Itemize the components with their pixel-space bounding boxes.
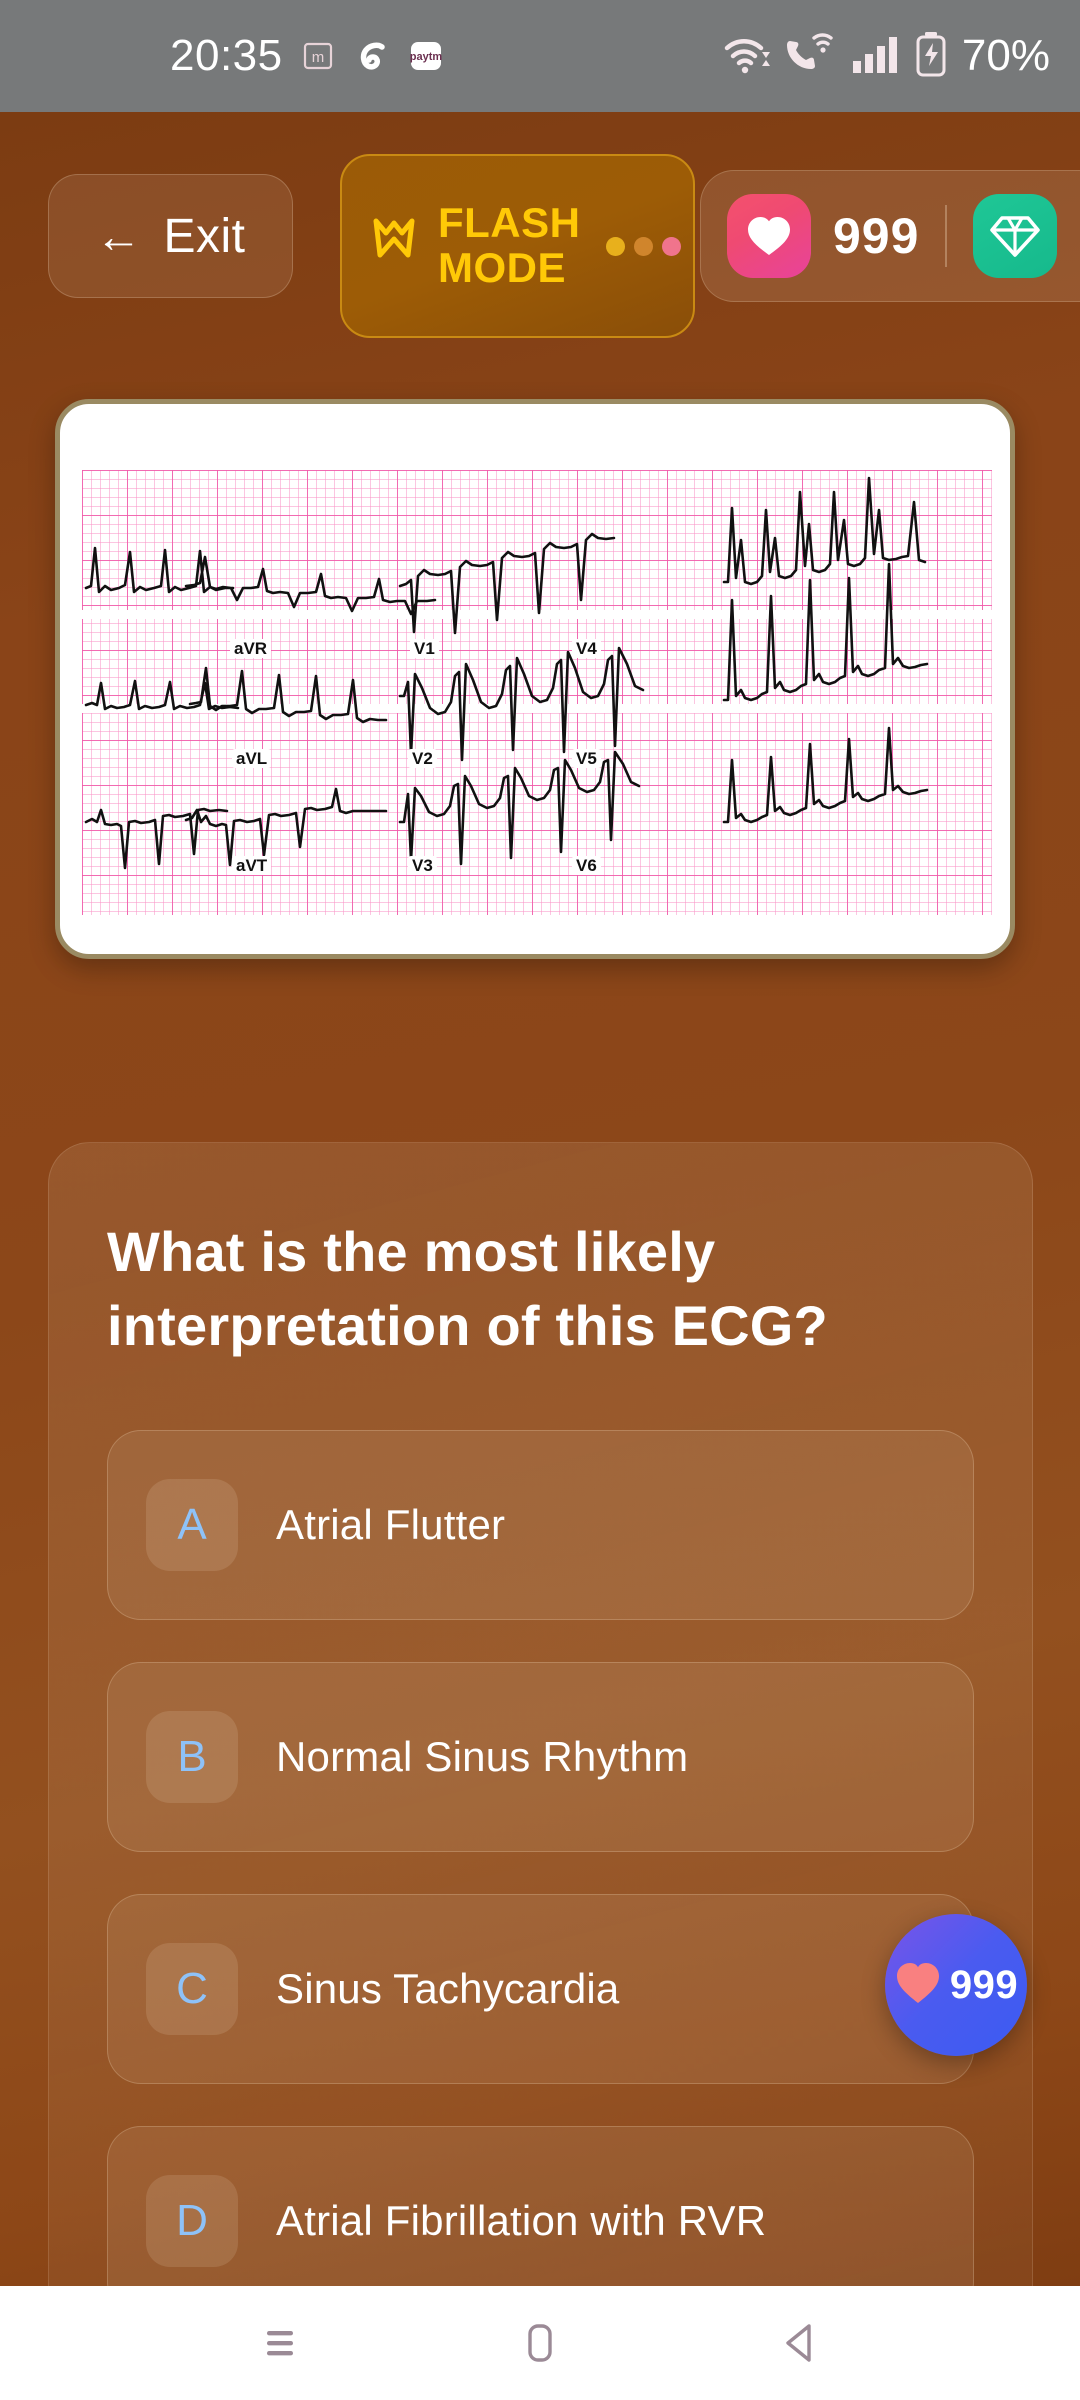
ecg-lead-label-v1: V1 [410, 639, 439, 658]
status-bar: 20:35 m paytm [0, 0, 1080, 112]
floating-like-button[interactable]: 999 [885, 1914, 1027, 2056]
answer-option-b[interactable]: B Normal Sinus Rhythm [107, 1662, 974, 1852]
question-text: What is the most likely interpretation o… [107, 1215, 974, 1364]
ecg-lead-label-avl: aVL [232, 749, 271, 768]
app-header: ← Exit FLASH MODE [0, 112, 1080, 317]
back-icon[interactable] [755, 2298, 845, 2388]
dot-2 [634, 237, 653, 256]
lightning-bolt-icon [368, 215, 420, 277]
answer-option-a[interactable]: A Atrial Flutter [107, 1430, 974, 1620]
ecg-lead-label-v5: V5 [572, 749, 601, 768]
option-label-b: Normal Sinus Rhythm [276, 1733, 688, 1781]
airtel-icon [353, 37, 391, 75]
diamond-icon [973, 194, 1057, 278]
status-bar-clock: 20:35 [170, 31, 283, 81]
wifi-calling-icon [784, 32, 836, 81]
ecg-lead-label-avt: aVT [232, 856, 271, 875]
flash-mode-label: FLASH MODE [438, 201, 586, 290]
flash-mode-button[interactable]: FLASH MODE [340, 154, 695, 338]
ecg-traces [82, 470, 992, 915]
heart-icon [894, 1960, 942, 2011]
ecg-lead-label-v4: V4 [572, 639, 601, 658]
home-icon[interactable] [495, 2298, 585, 2388]
recents-icon[interactable] [235, 2298, 325, 2388]
app-background: ← Exit FLASH MODE [0, 112, 1080, 2286]
status-bar-left: 20:35 m paytm [170, 31, 445, 81]
svg-text:paytm: paytm [409, 51, 442, 63]
option-label-d: Atrial Fibrillation with RVR [276, 2197, 766, 2245]
option-key-b: B [146, 1711, 238, 1803]
ecg-strip-card[interactable]: aVR V1 V4 aVL V2 V5 aVT V3 V6 [55, 399, 1015, 959]
option-label-a: Atrial Flutter [276, 1501, 505, 1549]
flash-mode-line1: FLASH [438, 199, 581, 246]
back-arrow-icon: ← [95, 213, 141, 259]
android-nav-bar [0, 2286, 1080, 2400]
ecg-lead-label-v6: V6 [572, 856, 601, 875]
status-bar-right: 70% [722, 31, 1050, 82]
svg-text:m: m [311, 49, 324, 66]
ecg-lead-label-v3: V3 [408, 856, 437, 875]
answer-options-list: A Atrial Flutter B Normal Sinus Rhythm C… [107, 1430, 974, 2286]
m-app-icon: m [299, 37, 337, 75]
battery-charging-icon [914, 31, 948, 82]
answer-option-c[interactable]: C Sinus Tachycardia [107, 1894, 974, 2084]
heart-icon [727, 194, 811, 278]
hearts-count: 999 [833, 207, 919, 265]
ecg-lead-label-v2: V2 [408, 749, 437, 768]
flash-mode-dots [606, 237, 681, 256]
cellular-signal-icon [850, 32, 900, 81]
exit-button[interactable]: ← Exit [48, 174, 293, 298]
exit-button-label: Exit [163, 209, 245, 264]
stats-chip[interactable]: 999 [700, 170, 1080, 302]
flash-mode-line2: MODE [438, 244, 566, 291]
answer-option-d[interactable]: D Atrial Fibrillation with RVR [107, 2126, 974, 2286]
wifi-icon [722, 32, 770, 81]
question-panel: What is the most likely interpretation o… [48, 1142, 1033, 2286]
option-key-c: C [146, 1943, 238, 2035]
battery-percentage: 70% [962, 31, 1050, 81]
chip-divider [945, 205, 947, 267]
ecg-lead-label-avr: aVR [230, 639, 271, 658]
floating-like-count: 999 [950, 1963, 1018, 2008]
dot-1 [606, 237, 625, 256]
option-key-d: D [146, 2175, 238, 2267]
option-key-a: A [146, 1479, 238, 1571]
dot-3 [662, 237, 681, 256]
paytm-icon: paytm [407, 37, 445, 75]
option-label-c: Sinus Tachycardia [276, 1965, 619, 2013]
